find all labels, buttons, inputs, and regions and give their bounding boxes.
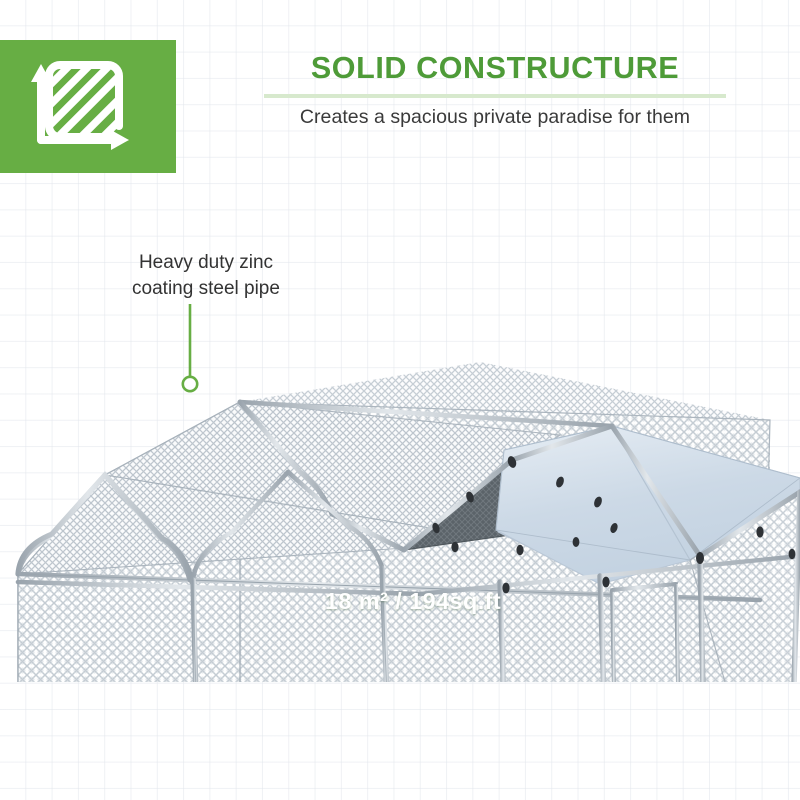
product-illustration [0, 342, 800, 682]
infographic-page: SOLID CONSTRUCTURE Creates a spacious pr… [0, 0, 800, 800]
page-subtitle: Creates a spacious private paradise for … [205, 106, 785, 129]
chicken-coop-run-drawing [0, 342, 800, 682]
area-dimensions-icon [0, 40, 176, 173]
page-title: SOLID CONSTRUCTURE [205, 52, 785, 85]
lockable-door [612, 584, 680, 682]
title-divider [264, 94, 726, 98]
callout-label: Heavy duty zinc coating steel pipe [76, 250, 336, 302]
area-dimensions-icon-badge [0, 40, 176, 173]
header-text-block: SOLID CONSTRUCTURE Creates a spacious pr… [205, 52, 785, 129]
